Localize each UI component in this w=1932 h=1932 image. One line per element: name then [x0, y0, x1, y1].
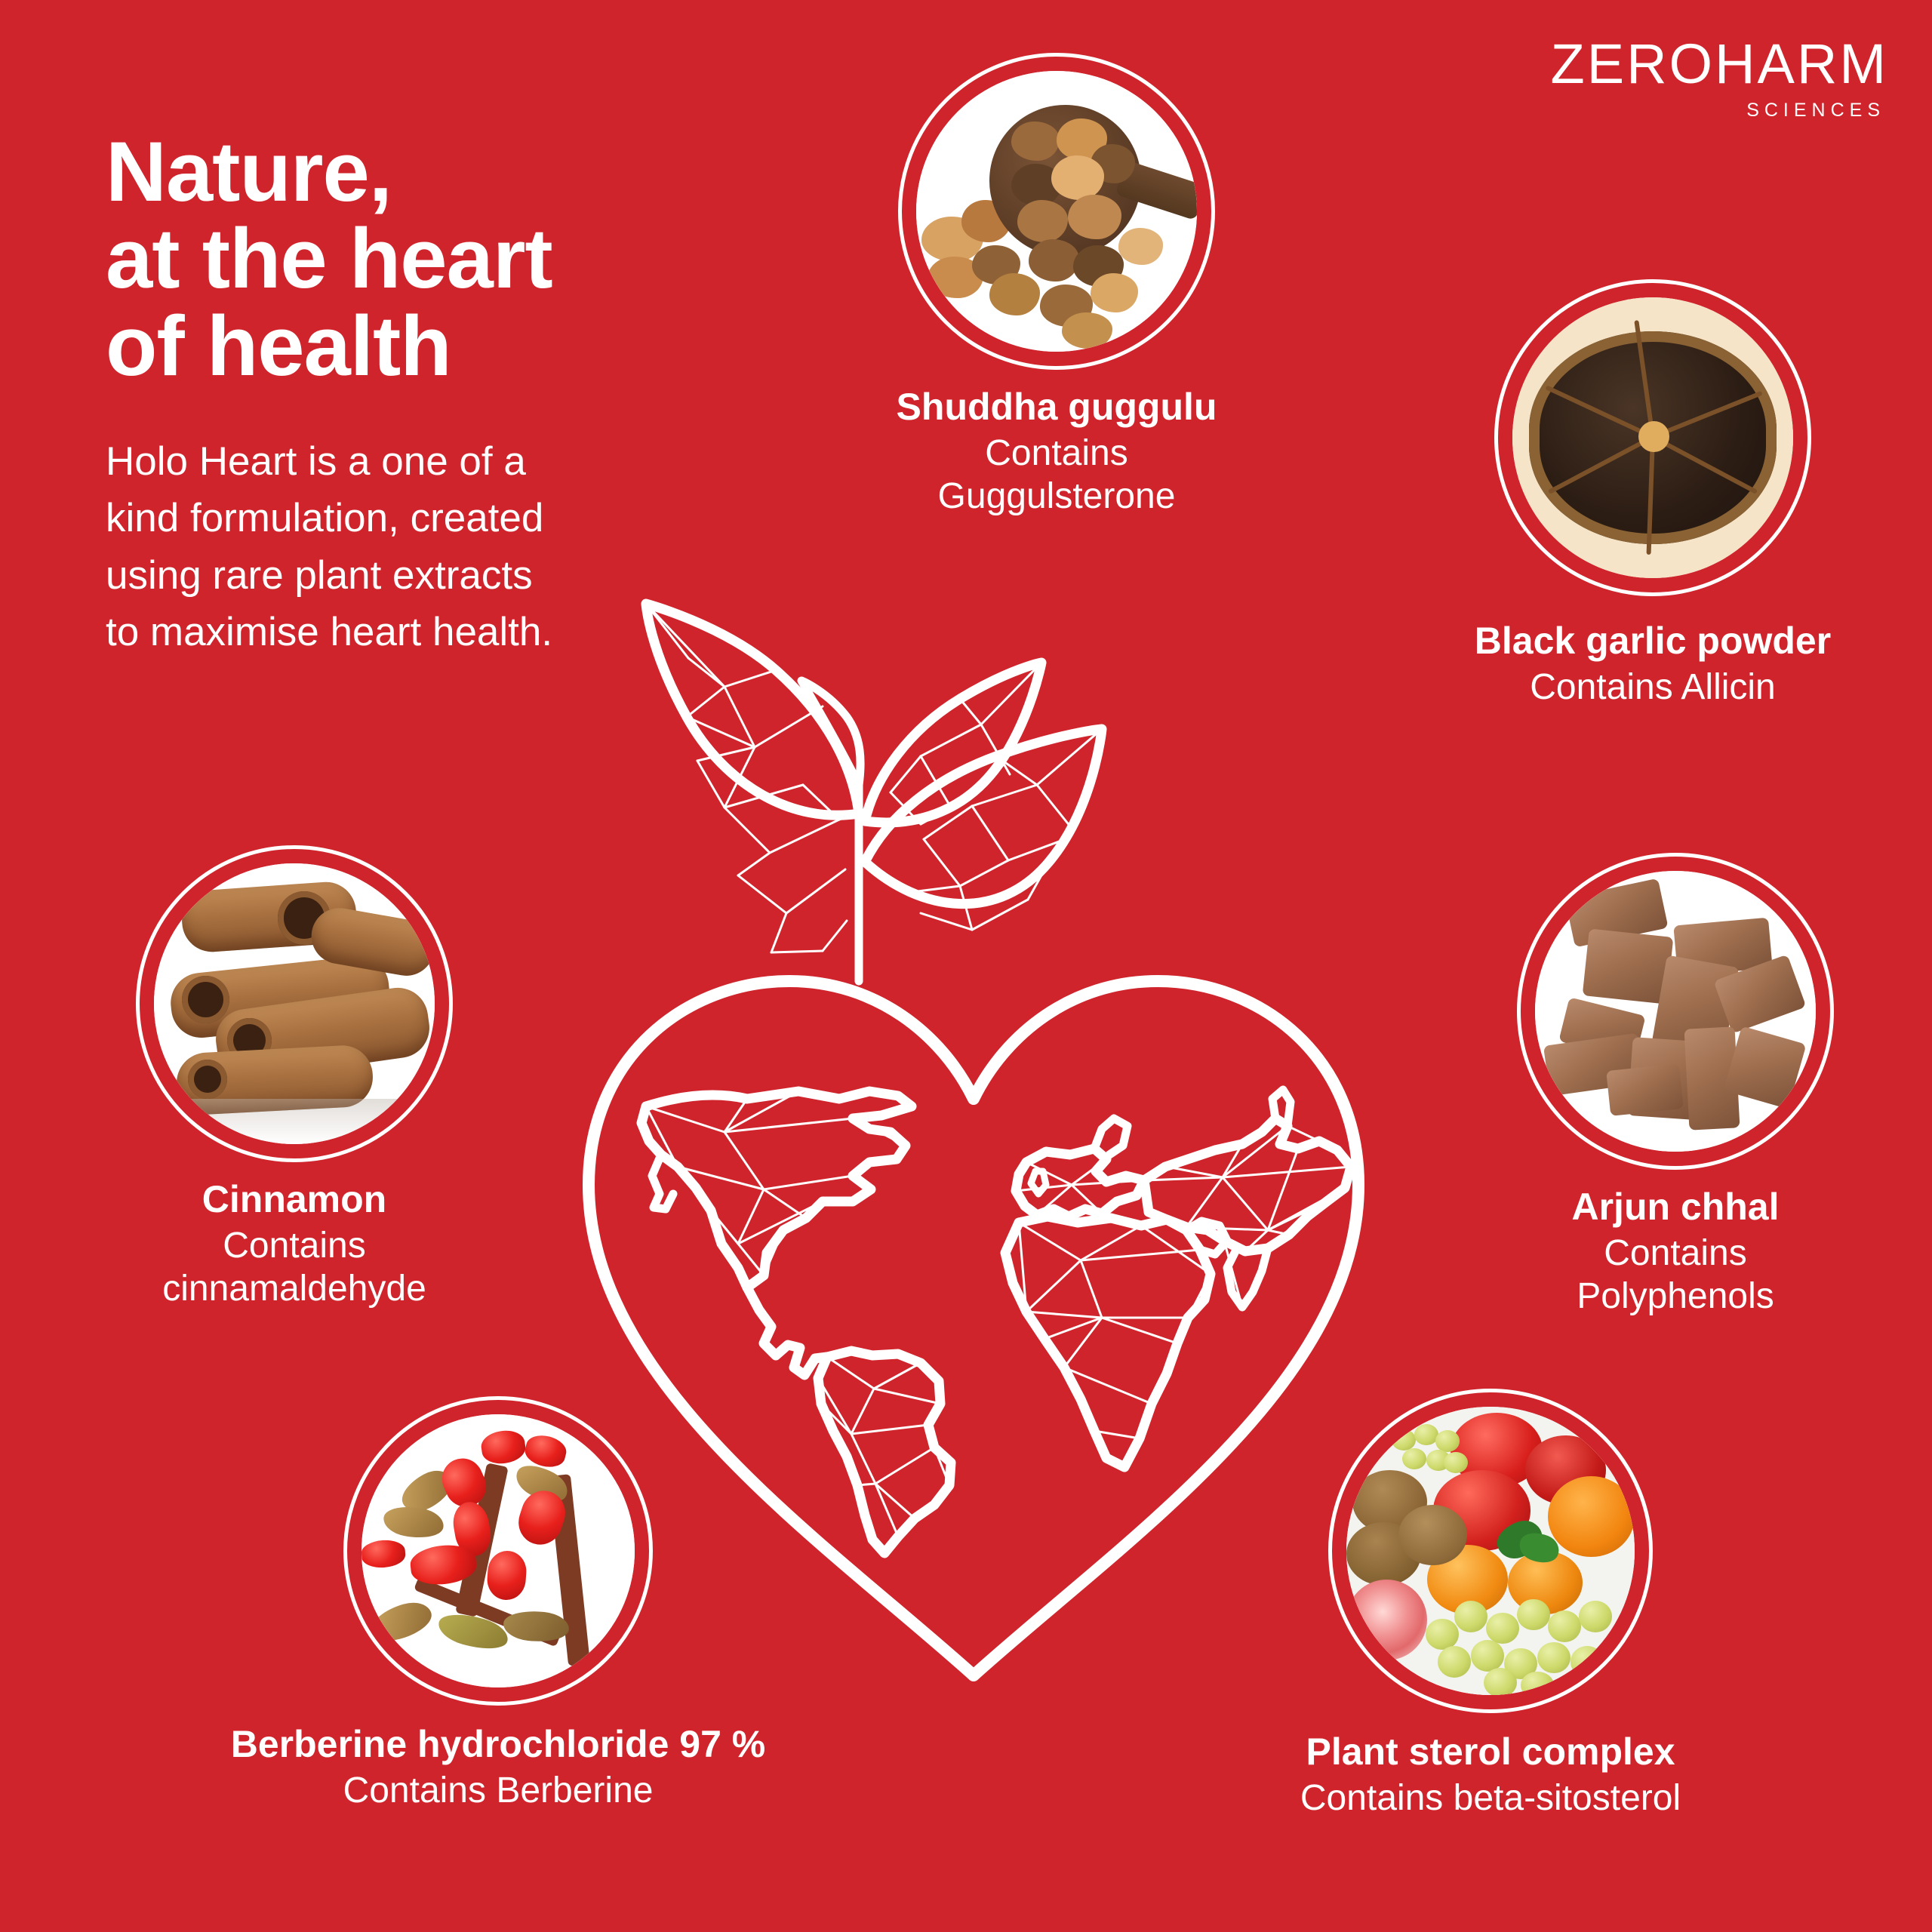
ingredient-contains: Contains Polyphenols [1487, 1232, 1864, 1318]
ingredient-cinnamon: Cinnamon Contains cinnamaldehyde [106, 845, 483, 1162]
plant-sterol-photo [1346, 1407, 1635, 1695]
ingredient-contains: Contains Guggulsterone [875, 432, 1238, 518]
ingredient-caption: Arjun chhal Contains Polyphenols [1487, 1185, 1864, 1318]
ingredient-caption: Shuddha guggulu Contains Guggulsterone [875, 385, 1238, 518]
brand-wordmark: ZEROHARM [1551, 36, 1888, 92]
black-garlic-photo [1512, 297, 1793, 578]
berberine-photo [361, 1414, 635, 1687]
ingredient-name: Berberine hydrochloride 97 % [158, 1722, 838, 1767]
ingredient-image-circle [1517, 853, 1834, 1170]
ingredient-image-circle [343, 1396, 653, 1706]
ingredient-black-garlic-powder: Black garlic powder Contains Allicin [1381, 279, 1924, 596]
page-title: Nature, at the heart of health [106, 128, 785, 389]
ingredient-name: Shuddha guggulu [875, 385, 1238, 429]
ingredient-name: Cinnamon [106, 1177, 483, 1222]
ingredient-berberine-hydrochloride: Berberine hydrochloride 97 % Contains Be… [158, 1396, 838, 1706]
ingredient-caption: Cinnamon Contains cinnamaldehyde [106, 1177, 483, 1310]
brand-tagline: SCIENCES [1551, 101, 1885, 120]
sprout-icon [646, 604, 1102, 981]
ingredient-plant-sterol-complex: Plant sterol complex Contains beta-sitos… [1177, 1389, 1804, 1713]
ingredient-contains: Contains cinnamaldehyde [106, 1225, 483, 1310]
ingredient-image-circle [1328, 1389, 1653, 1713]
infographic-poster: ZEROHARM SCIENCES Nature, at the heart o… [0, 0, 1932, 1932]
ingredient-caption: Berberine hydrochloride 97 % Contains Be… [158, 1722, 838, 1813]
brand-logo: ZEROHARM SCIENCES [1551, 36, 1888, 120]
ingredient-name: Plant sterol complex [1177, 1730, 1804, 1774]
ingredient-contains: Contains Berberine [158, 1770, 838, 1813]
ingredient-shuddha-guggulu: Shuddha guggulu Contains Guggulsterone [875, 53, 1238, 370]
ingredient-caption: Black garlic powder Contains Allicin [1381, 619, 1924, 709]
ingredient-contains: Contains beta-sitosterol [1177, 1777, 1804, 1820]
ingredient-caption: Plant sterol complex Contains beta-sitos… [1177, 1730, 1804, 1820]
arjun-bark-photo [1535, 871, 1816, 1152]
ingredient-name: Arjun chhal [1487, 1185, 1864, 1229]
ingredient-image-circle [136, 845, 453, 1162]
ingredient-image-circle [1494, 279, 1811, 596]
ingredient-name: Black garlic powder [1381, 619, 1924, 663]
guggulu-photo [916, 71, 1197, 352]
ingredient-arjun-chhal: Arjun chhal Contains Polyphenols [1487, 853, 1864, 1170]
cinnamon-photo [154, 863, 435, 1144]
ingredient-contains: Contains Allicin [1381, 666, 1924, 709]
ingredient-image-circle [898, 53, 1215, 370]
